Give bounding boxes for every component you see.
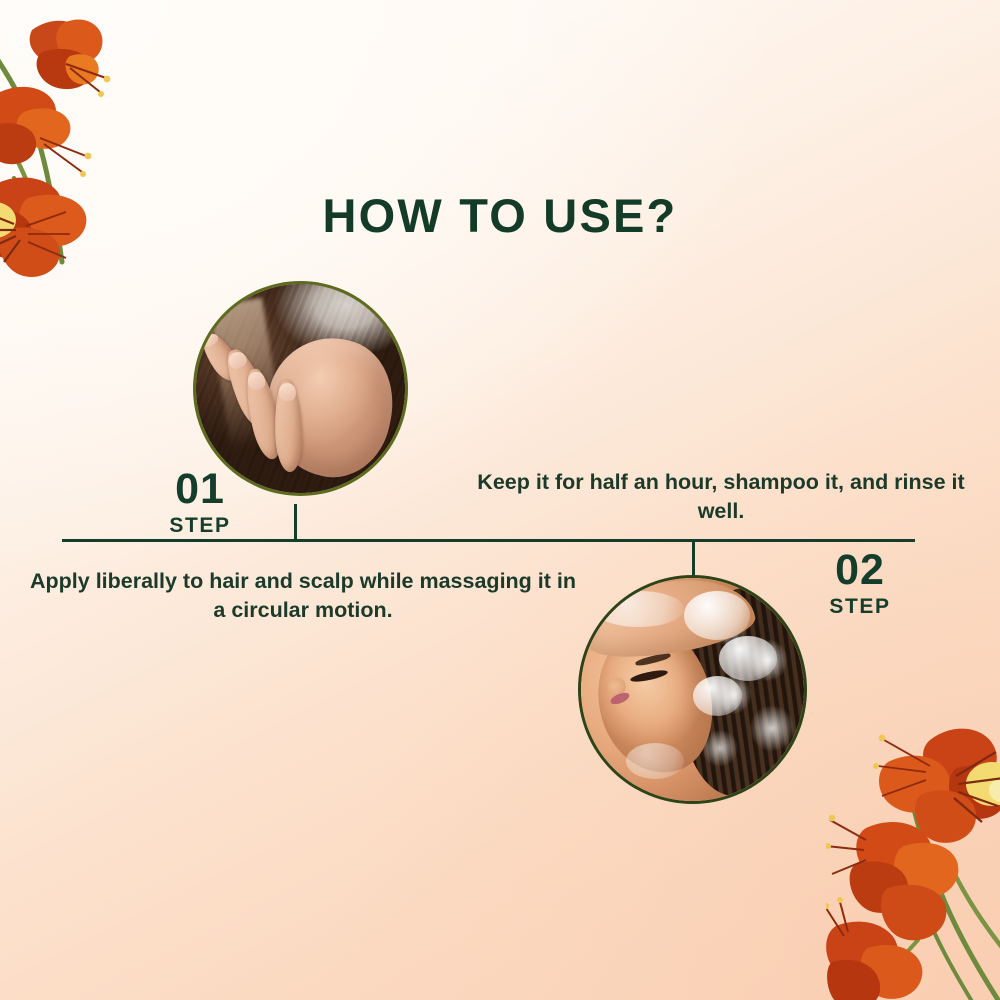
timeline-connector-step-2 [692, 540, 695, 580]
scalp-massage-photo [196, 284, 405, 493]
step-1-description: Apply liberally to hair and scalp while … [30, 567, 576, 624]
foam-cluster [594, 591, 683, 627]
step-word: STEP [780, 595, 940, 619]
how-to-use-poster: HOW TO USE? [0, 0, 1000, 1000]
page-title: HOW TO USE? [0, 188, 1000, 243]
foam-cluster [626, 743, 684, 779]
step-label-01: 01 STEP [120, 468, 280, 538]
step-word: STEP [120, 514, 280, 538]
timeline-connector-step-1 [294, 504, 297, 542]
step-label-02: 02 STEP [780, 549, 940, 619]
step-number: 01 [120, 468, 280, 511]
foam-cluster [719, 636, 777, 681]
fingernail [279, 383, 296, 402]
foam-cluster [693, 676, 742, 716]
scalp-massage-scene [196, 284, 405, 493]
step-2-description: Keep it for half an hour, shampoo it, an… [468, 468, 974, 525]
timeline-axis [62, 539, 915, 542]
hair-wash-photo [581, 578, 804, 801]
step-number: 02 [780, 549, 940, 592]
hair-wash-scene [581, 578, 804, 801]
